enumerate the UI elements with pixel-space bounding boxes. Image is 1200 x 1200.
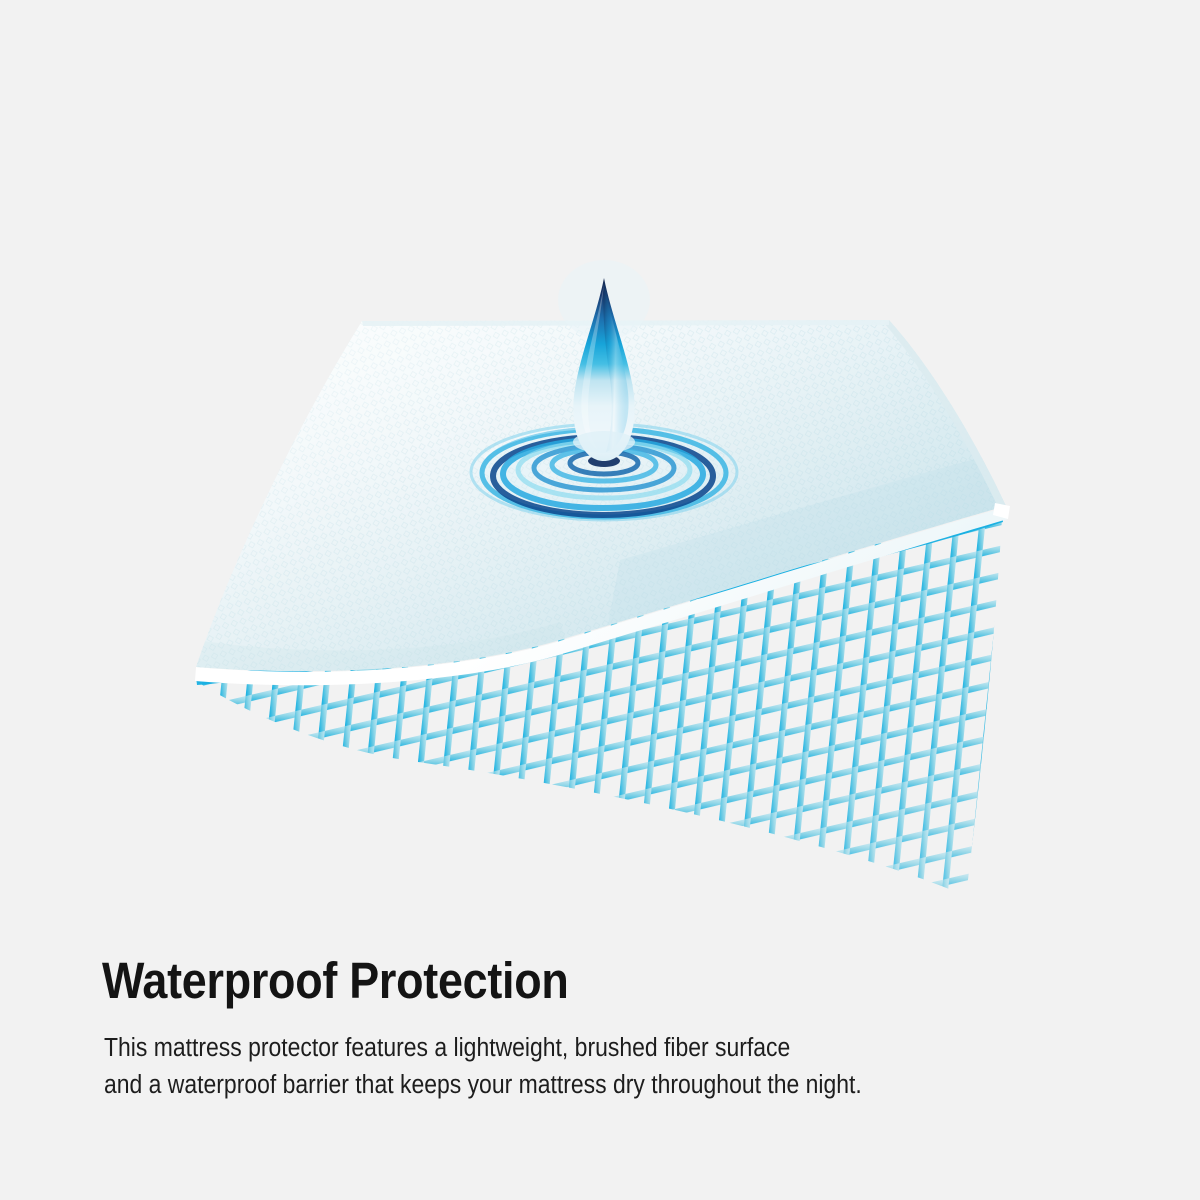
page-title: Waterproof Protection bbox=[102, 952, 569, 1010]
caption-block: Waterproof Protection This mattress prot… bbox=[0, 930, 1200, 1200]
droplet-base bbox=[573, 431, 635, 453]
illustration-canvas bbox=[0, 0, 1200, 930]
description-line-2: and a waterproof barrier that keeps your… bbox=[104, 1067, 862, 1104]
hero-illustration bbox=[0, 0, 1200, 930]
description-text: This mattress protector features a light… bbox=[104, 1030, 862, 1104]
product-feature-card: Waterproof Protection This mattress prot… bbox=[0, 0, 1200, 1200]
description-line-1: This mattress protector features a light… bbox=[104, 1030, 862, 1067]
